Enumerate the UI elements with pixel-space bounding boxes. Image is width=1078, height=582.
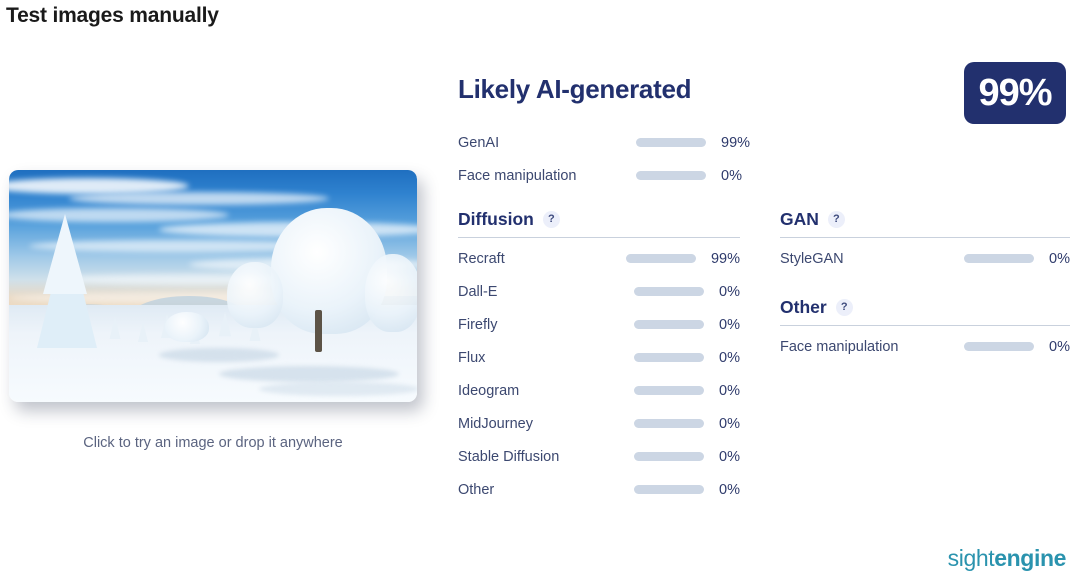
model-columns: Diffusion ? Recraft 99% Dall-E 0% Firefl… bbox=[458, 209, 1070, 506]
logo-text-engine: engine bbox=[994, 545, 1066, 571]
metric-bar-track bbox=[634, 452, 704, 461]
help-icon[interactable]: ? bbox=[543, 211, 560, 228]
section-gap bbox=[780, 275, 1070, 297]
metric-row: Dall-E 0% bbox=[458, 275, 740, 308]
metric-value: 0% bbox=[719, 317, 740, 333]
section-title: Diffusion bbox=[458, 209, 534, 230]
metric-bar-track bbox=[626, 254, 696, 263]
metric-label: MidJourney bbox=[458, 416, 634, 432]
snow-track bbox=[259, 382, 417, 396]
diffusion-section: Diffusion ? Recraft 99% Dall-E 0% Firefl… bbox=[458, 209, 740, 506]
metric-row: Flux 0% bbox=[458, 341, 740, 374]
metric-value: 0% bbox=[1049, 251, 1070, 267]
gan-other-column: GAN ? StyleGAN 0% Other ? Face manipulat… bbox=[780, 209, 1070, 506]
metric-label: StyleGAN bbox=[780, 251, 964, 267]
metric-label: Stable Diffusion bbox=[458, 449, 634, 465]
frosted-tree bbox=[227, 262, 283, 328]
metric-row: GenAI 99% bbox=[458, 126, 1070, 159]
cloud-streak bbox=[9, 208, 229, 222]
metric-label: Ideogram bbox=[458, 383, 634, 399]
metric-label: Recraft bbox=[458, 251, 626, 267]
metric-row: Firefly 0% bbox=[458, 308, 740, 341]
metric-label: Other bbox=[458, 482, 634, 498]
metric-row: StyleGAN 0% bbox=[780, 242, 1070, 275]
metric-value: 99% bbox=[711, 251, 740, 267]
section-divider bbox=[780, 325, 1070, 326]
sightengine-logo[interactable]: sightengine bbox=[948, 545, 1066, 572]
metric-row: Stable Diffusion 0% bbox=[458, 440, 740, 473]
small-conifer bbox=[110, 317, 121, 339]
top-metrics-list: GenAI 99% Face manipulation 0% bbox=[458, 126, 1070, 192]
metric-bar-track bbox=[634, 287, 704, 296]
metric-bar-track bbox=[634, 386, 704, 395]
metric-row: Recraft 99% bbox=[458, 242, 740, 275]
cloud-streak bbox=[69, 192, 329, 205]
metric-value: 0% bbox=[719, 350, 740, 366]
snow-track bbox=[219, 366, 399, 382]
metric-value: 99% bbox=[721, 135, 750, 151]
small-conifer bbox=[219, 312, 231, 337]
metric-value: 0% bbox=[719, 416, 740, 432]
metric-bar-track bbox=[964, 342, 1034, 351]
image-preview-column: Click to try an image or drop it anywher… bbox=[0, 170, 426, 451]
help-icon[interactable]: ? bbox=[828, 211, 845, 228]
results-panel: Likely AI-generated 99% GenAI 99% Face m… bbox=[458, 62, 1070, 506]
metric-bar-track bbox=[634, 485, 704, 494]
metric-value: 0% bbox=[719, 284, 740, 300]
metric-label: GenAI bbox=[458, 135, 636, 151]
snow-track bbox=[159, 348, 279, 362]
help-icon[interactable]: ? bbox=[836, 299, 853, 316]
metric-value: 0% bbox=[721, 168, 742, 184]
metric-label: Dall-E bbox=[458, 284, 634, 300]
metric-bar-track bbox=[634, 320, 704, 329]
metric-row: MidJourney 0% bbox=[458, 407, 740, 440]
page-title: Test images manually bbox=[6, 4, 219, 28]
dropzone-caption: Click to try an image or drop it anywher… bbox=[0, 435, 426, 451]
metric-value: 0% bbox=[719, 449, 740, 465]
frosted-shrub bbox=[165, 312, 209, 342]
verdict-row: Likely AI-generated 99% bbox=[458, 62, 1070, 126]
column-spacer bbox=[740, 209, 780, 506]
metric-bar-track bbox=[634, 419, 704, 428]
metric-label: Firefly bbox=[458, 317, 634, 333]
image-dropzone[interactable] bbox=[9, 170, 417, 402]
metric-row: Face manipulation 0% bbox=[780, 330, 1070, 363]
section-title: Other bbox=[780, 297, 827, 318]
score-badge: 99% bbox=[964, 62, 1066, 124]
metric-bar-track bbox=[964, 254, 1034, 263]
other-section-header: Other ? bbox=[780, 297, 1070, 325]
metric-value: 0% bbox=[719, 383, 740, 399]
section-divider bbox=[458, 237, 740, 238]
section-divider bbox=[780, 237, 1070, 238]
diffusion-section-header: Diffusion ? bbox=[458, 209, 740, 237]
verdict-text: Likely AI-generated bbox=[458, 74, 691, 105]
small-conifer bbox=[138, 322, 148, 342]
metric-value: 0% bbox=[1049, 339, 1070, 355]
gan-section-header: GAN ? bbox=[780, 209, 1070, 237]
metric-label: Face manipulation bbox=[780, 339, 964, 355]
metric-label: Flux bbox=[458, 350, 634, 366]
metric-row: Ideogram 0% bbox=[458, 374, 740, 407]
metric-row: Other 0% bbox=[458, 473, 740, 506]
metric-label: Face manipulation bbox=[458, 168, 636, 184]
frosted-tree bbox=[365, 254, 417, 332]
metric-bar-track bbox=[636, 171, 706, 180]
section-title: GAN bbox=[780, 209, 819, 230]
tree-trunk bbox=[315, 310, 322, 352]
uploaded-image-thumbnail[interactable] bbox=[9, 170, 417, 402]
metric-row: Face manipulation 0% bbox=[458, 159, 1070, 192]
logo-text-sight: sight bbox=[948, 545, 995, 571]
large-spruce-top bbox=[43, 214, 87, 294]
metric-bar-track bbox=[636, 138, 706, 147]
metric-value: 0% bbox=[719, 482, 740, 498]
metric-bar-track bbox=[634, 353, 704, 362]
